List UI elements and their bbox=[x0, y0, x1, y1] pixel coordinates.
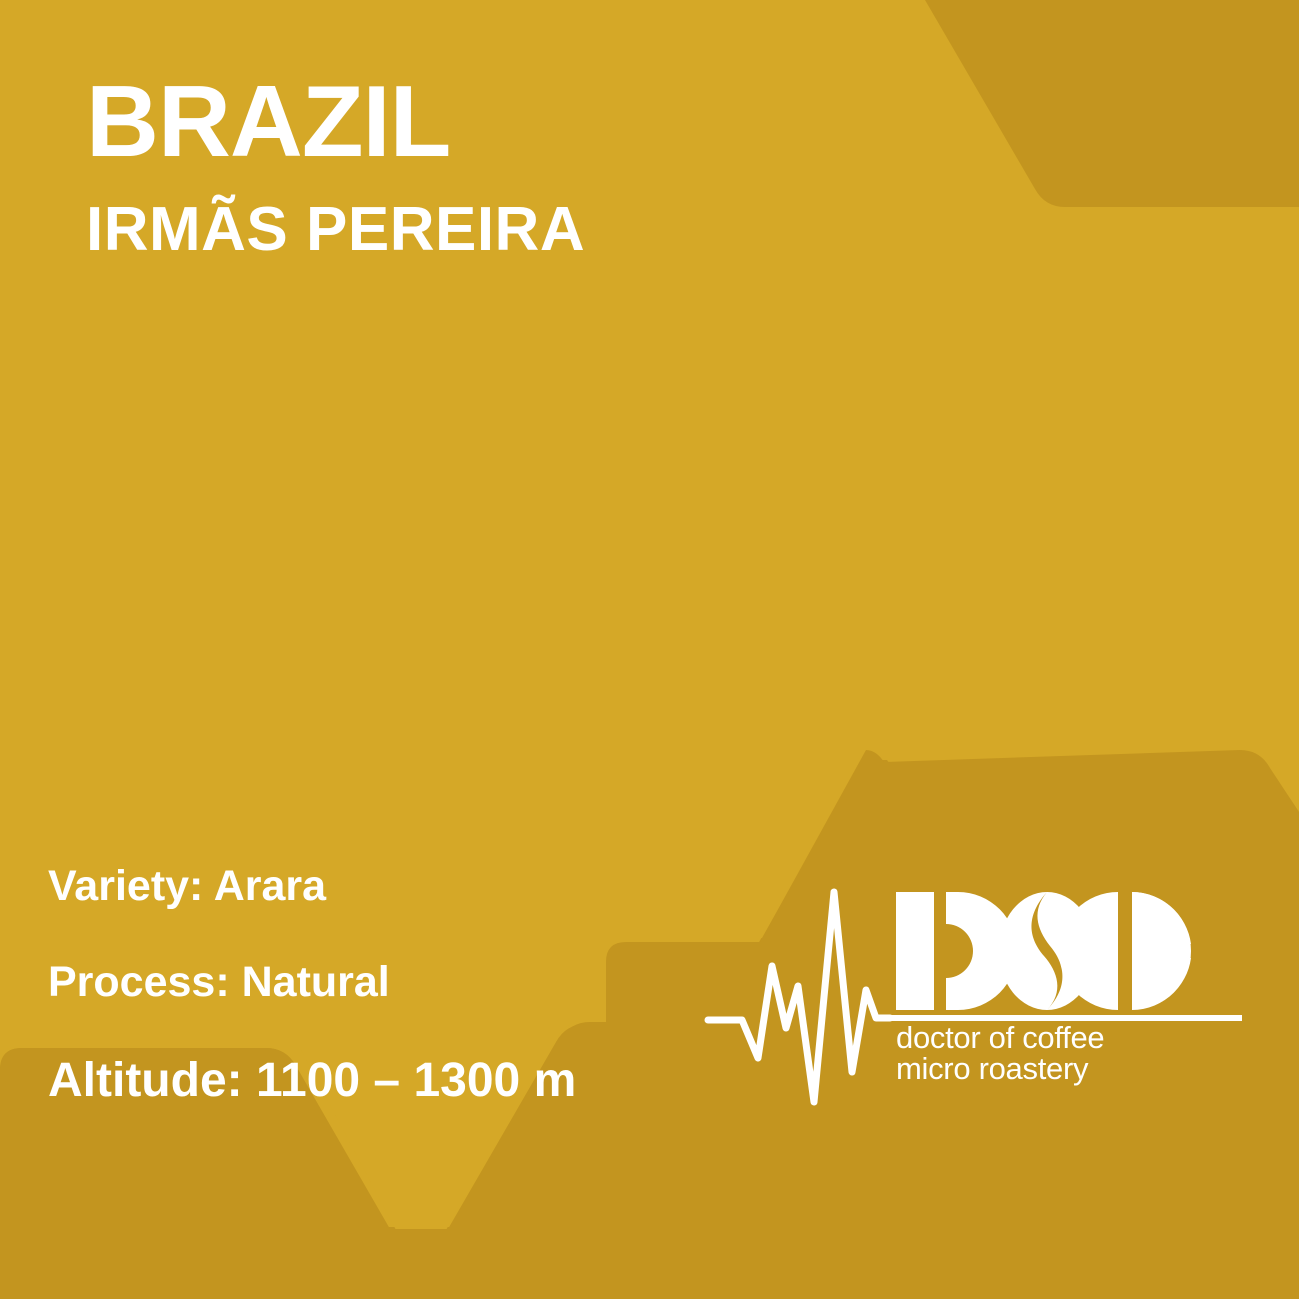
farm-subtitle: IRMÃS PEREIRA bbox=[86, 199, 585, 261]
detail-variety: Variety: Arara bbox=[48, 865, 576, 908]
detail-process: Process: Natural bbox=[48, 961, 576, 1004]
logo-tagline-line2: micro roastery bbox=[896, 1051, 1089, 1086]
page-title: BRAZIL bbox=[86, 72, 585, 173]
brand-logo: doctor of coffee micro roastery bbox=[700, 880, 1260, 1120]
top-right-accent-shape bbox=[925, 0, 1299, 207]
logo-letter-c bbox=[1059, 892, 1191, 1010]
header-block: BRAZIL IRMÃS PEREIRA bbox=[86, 72, 585, 261]
coffee-bag-label-card: BRAZIL IRMÃS PEREIRA Variety: Arara Proc… bbox=[0, 0, 1299, 1299]
detail-altitude: Altitude: 1100 – 1300 m bbox=[48, 1057, 576, 1105]
ekg-heartbeat-icon bbox=[708, 892, 890, 1102]
logo-letter-d bbox=[896, 892, 1017, 1010]
coffee-details-list: Variety: Arara Process: Natural Altitude… bbox=[48, 865, 576, 1105]
logo-tagline-line1: doctor of coffee bbox=[896, 1020, 1104, 1055]
